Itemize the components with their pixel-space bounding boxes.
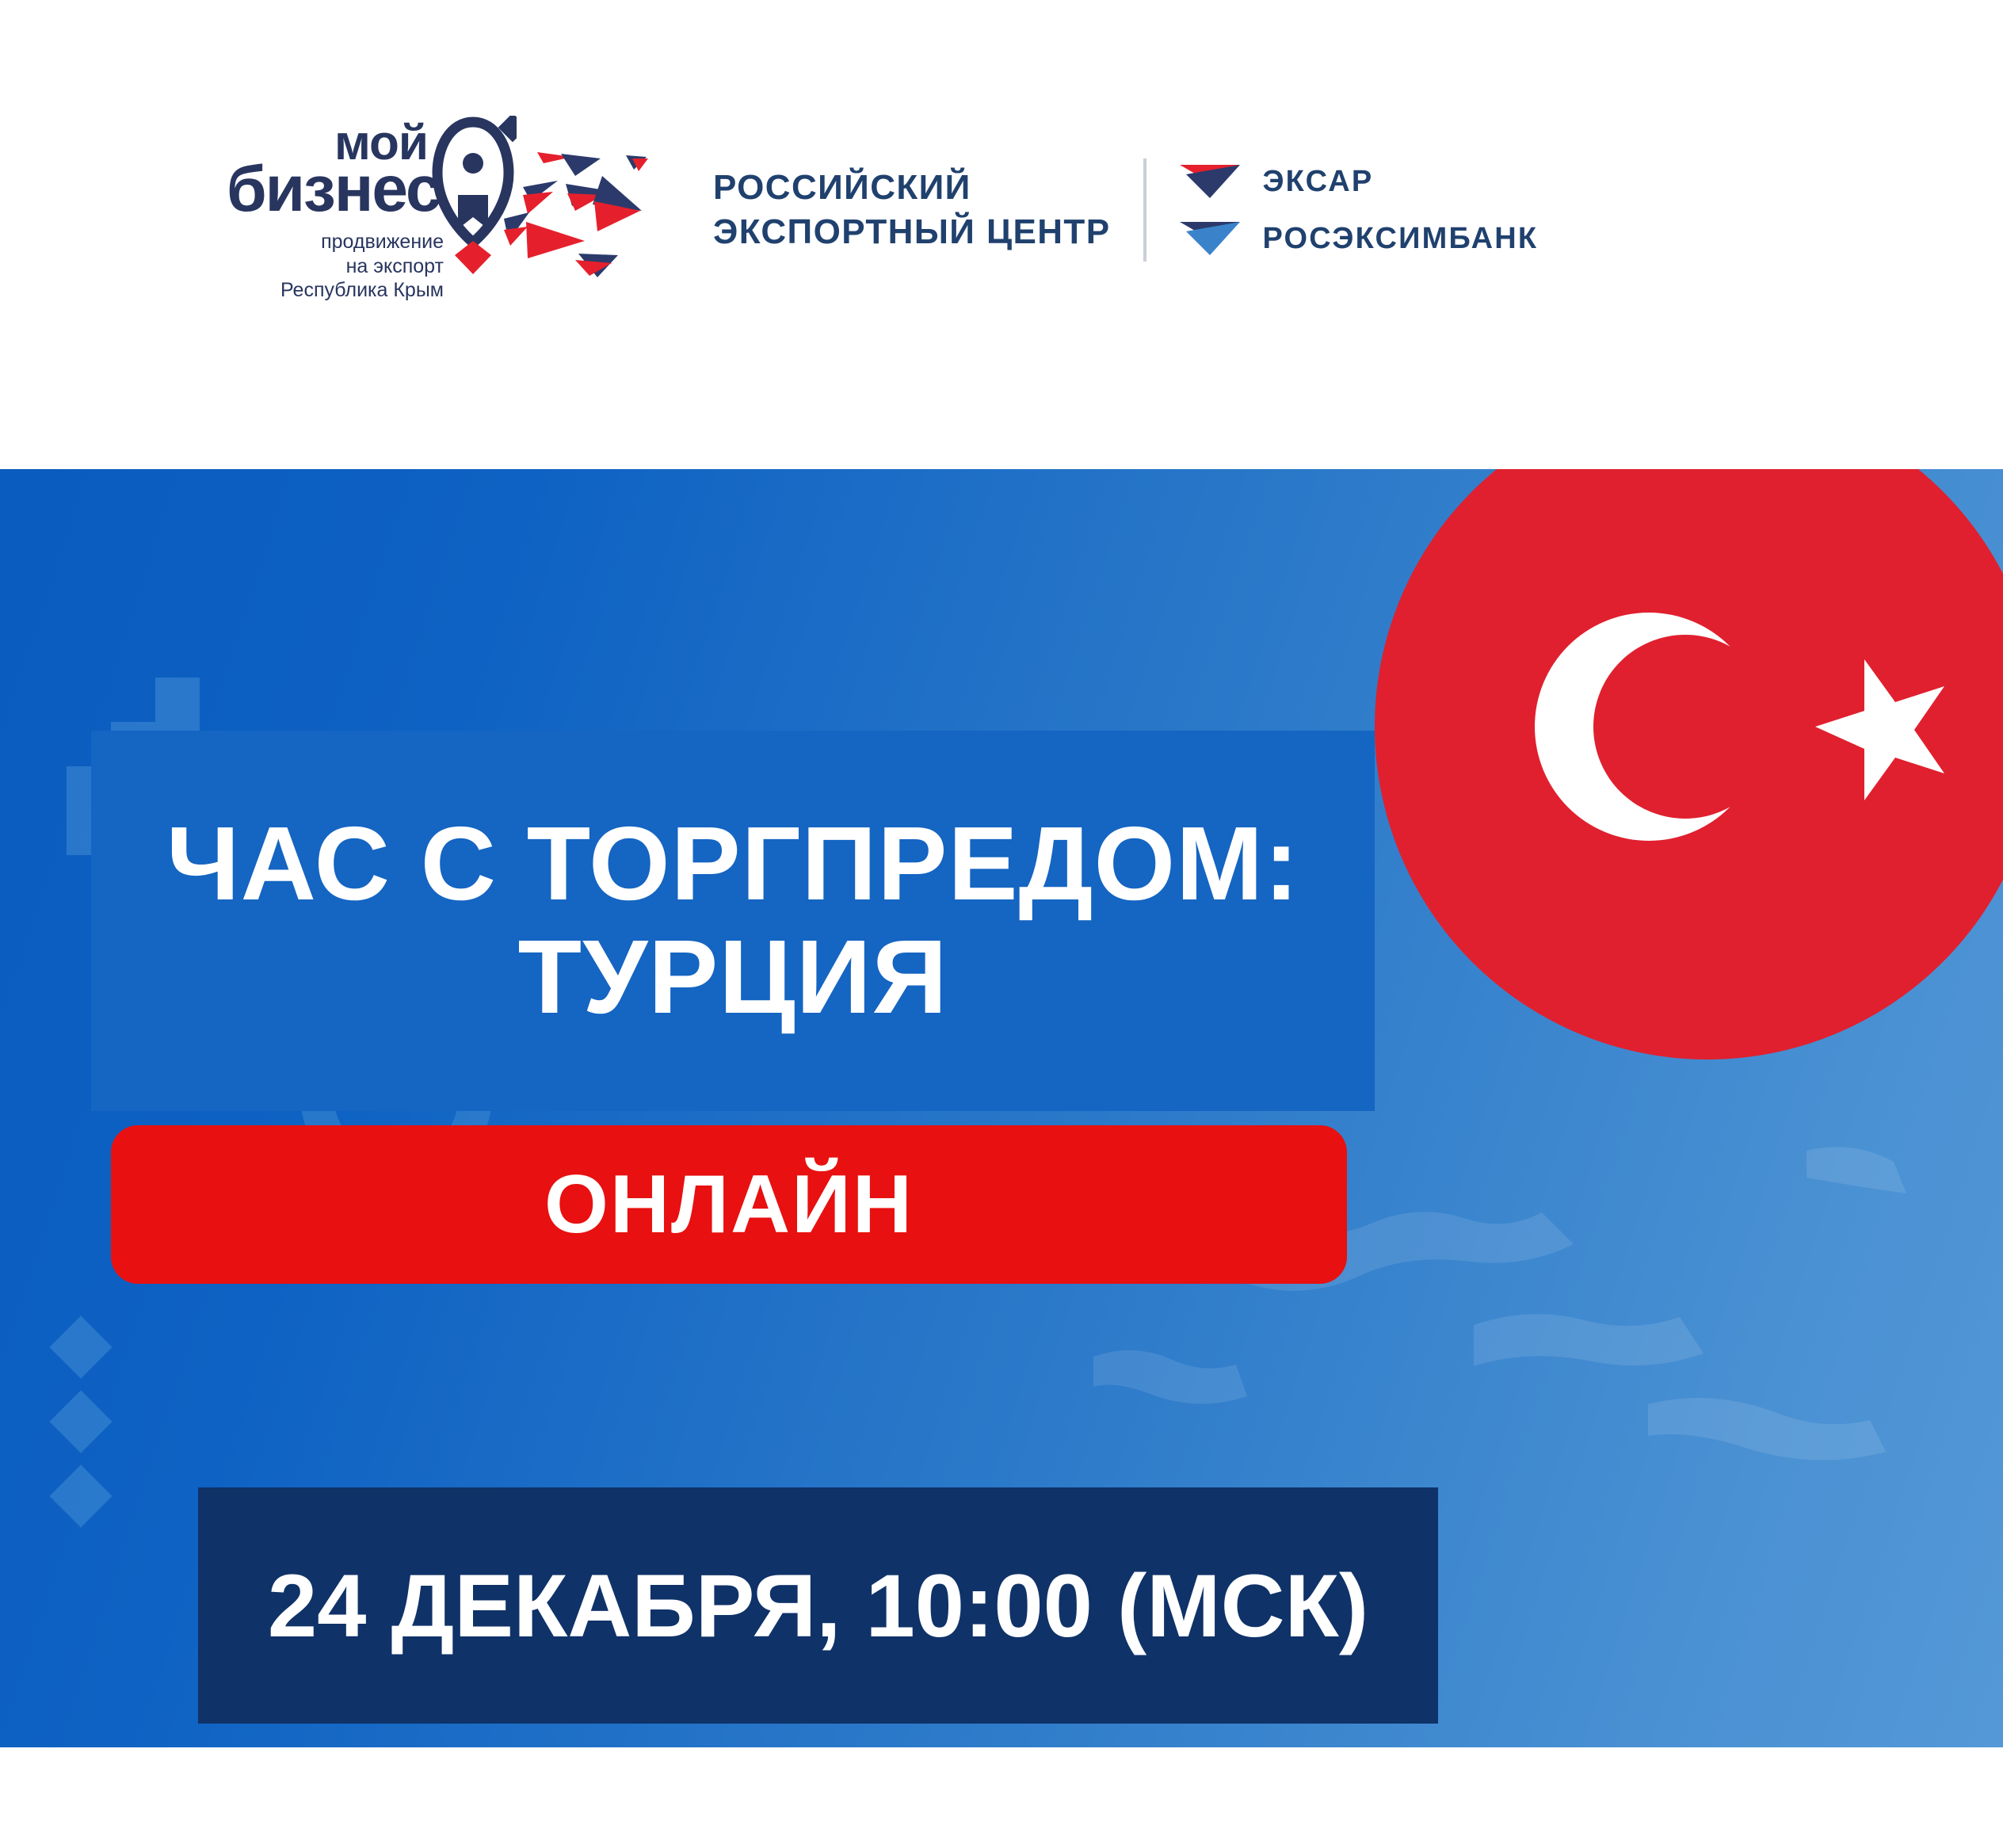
exiar-logo: ЭКСАР xyxy=(1180,163,1538,200)
moy-biznes-tagline: продвижение на экспорт Республика Крым xyxy=(261,230,444,303)
roseximbank-logo: РОСЭКСИМБАНК xyxy=(1180,220,1538,257)
event-title-line2: ТУРЦИЯ xyxy=(518,921,948,1034)
rec-name-line1: РОССИЙСКИЙ xyxy=(713,166,1110,210)
roseximbank-label: РОСЭКСИМБАНК xyxy=(1262,222,1538,256)
moy-biznes-word-bottom: бизнес xyxy=(227,157,440,222)
moy-biznes-tagline-line1: продвижение xyxy=(261,230,444,254)
moy-biznes-tagline-line2: на экспорт xyxy=(261,254,444,279)
russian-export-center-logo: РОССИЙСКИЙ ЭКСПОРТНЫЙ ЦЕНТР xyxy=(499,143,1110,277)
logo-row: мой бизнес продвижение на экспорт Респуб… xyxy=(238,119,1538,301)
date-time-label: 24 ДЕКАБРЯ, 10:00 (МСК) xyxy=(268,1555,1368,1657)
event-title-box: ЧАС С ТОРГПРЕДОМ: ТУРЦИЯ xyxy=(91,731,1375,1111)
logo-divider xyxy=(1143,158,1146,262)
red-navy-triangle-icon xyxy=(1180,163,1240,200)
header-logo-bar: мой бизнес продвижение на экспорт Респуб… xyxy=(0,0,2003,469)
exiar-label: ЭКСАР xyxy=(1262,165,1373,199)
rec-name: РОССИЙСКИЙ ЭКСПОРТНЫЙ ЦЕНТР xyxy=(713,166,1110,255)
event-title-line1: ЧАС С ТОРГПРЕДОМ: xyxy=(166,808,1299,921)
turkey-flag-circle-icon xyxy=(1375,469,2003,1060)
moy-biznes-tagline-line3: Республика Крым xyxy=(261,278,444,303)
moy-biznes-logo: мой бизнес продвижение на экспорт Респуб… xyxy=(238,119,475,301)
navy-blue-triangle-icon xyxy=(1180,220,1240,257)
date-time-banner: 24 ДЕКАБРЯ, 10:00 (МСК) xyxy=(198,1487,1438,1724)
partner-logos: ЭКСАР РОСЭКСИМБАНК xyxy=(1180,163,1538,257)
format-badge: ОНЛАЙН xyxy=(111,1125,1347,1284)
rec-name-line2: ЭКСПОРТНЫЙ ЦЕНТР xyxy=(713,210,1110,254)
triangles-emblem-icon xyxy=(499,143,689,277)
format-badge-label: ОНЛАЙН xyxy=(544,1158,914,1252)
crescent-and-star-icon xyxy=(1375,469,2003,1060)
